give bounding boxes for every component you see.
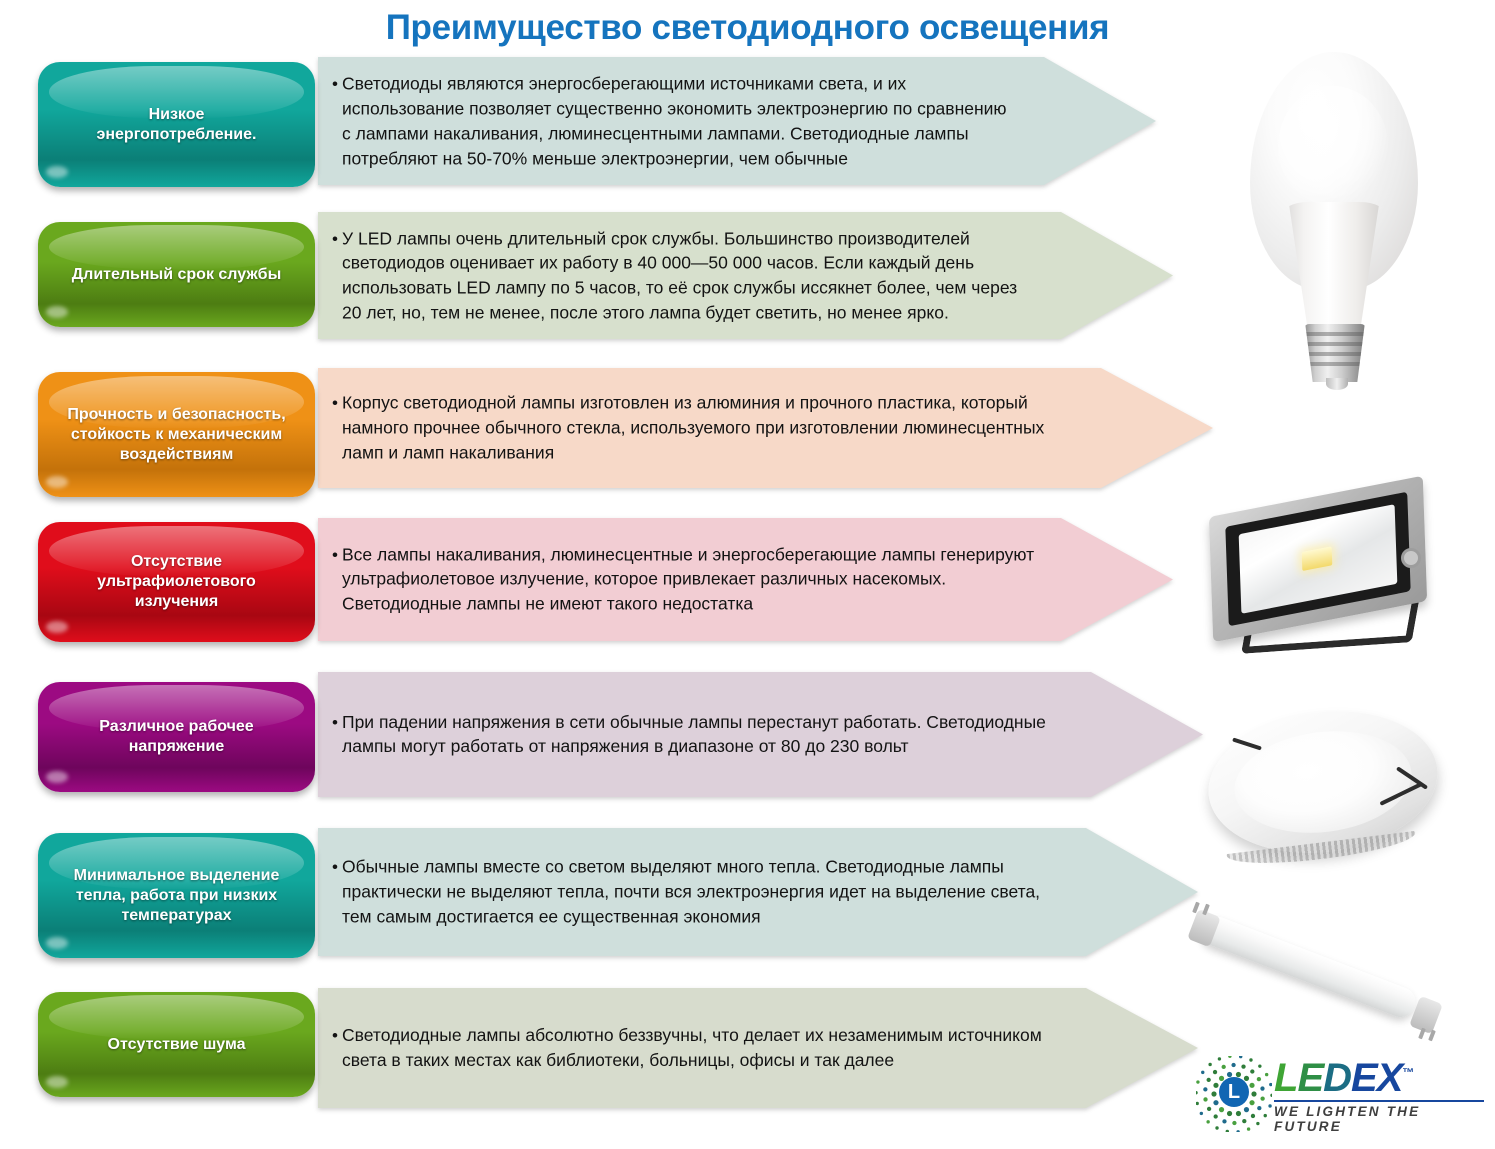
advantage-label[interactable]: Отсутствие шума bbox=[38, 992, 315, 1097]
advantage-description: •Светодиодные лампы абсолютно беззвучны,… bbox=[332, 1023, 1062, 1073]
advantage-description: •Светодиоды являются энергосберегающими … bbox=[332, 71, 1020, 170]
advantage-label-text: Длительный срок службы bbox=[72, 265, 281, 285]
logo-letter-e2: E bbox=[1351, 1056, 1377, 1100]
logo-mark-letter: L bbox=[1219, 1077, 1249, 1107]
infographic-page: Преимущество светодиодного освещения •Св… bbox=[0, 0, 1495, 1149]
led-round-panel-image bbox=[1208, 700, 1453, 865]
advantage-label[interactable]: Прочность и безопасность, стойкость к ме… bbox=[38, 372, 315, 497]
advantage-description-text: Обычные лампы вместе со светом выделяют … bbox=[332, 855, 1062, 930]
advantage-description: •Все лампы накаливания, люминесцентные и… bbox=[332, 542, 1037, 617]
panel-diffuser bbox=[1229, 722, 1418, 843]
advantage-description: •Корпус светодиодной лампы изготовлен из… bbox=[332, 391, 1077, 466]
bulb-contact-tip bbox=[1326, 378, 1348, 390]
pill-corner-highlight bbox=[46, 1076, 68, 1088]
bullet-marker: • bbox=[332, 392, 338, 416]
pill-corner-highlight bbox=[46, 771, 68, 783]
pill-gloss bbox=[49, 225, 304, 269]
bulb-screw-base bbox=[1304, 324, 1366, 382]
logo-letter-e1: E bbox=[1297, 1056, 1323, 1100]
led-tube-image bbox=[1190, 918, 1440, 1043]
floodlight-glass bbox=[1239, 504, 1398, 614]
advantage-arrow: •У LED лампы очень длительный срок служб… bbox=[318, 212, 1173, 339]
pill-corner-highlight bbox=[46, 937, 68, 949]
advantage-description: •У LED лампы очень длительный срок служб… bbox=[332, 226, 1037, 325]
advantage-description-text: Все лампы накаливания, люминесцентные и … bbox=[332, 542, 1037, 617]
advantage-arrow: •Светодиодные лампы абсолютно беззвучны,… bbox=[318, 988, 1198, 1108]
led-floodlight-image bbox=[1205, 492, 1440, 652]
panel-rim bbox=[1200, 699, 1445, 866]
advantage-label-text: Прочность и безопасность, стойкость к ме… bbox=[67, 405, 285, 465]
advantage-arrow: •Светодиоды являются энергосберегающими … bbox=[318, 57, 1156, 185]
advantage-description: •Обычные лампы вместе со светом выделяют… bbox=[332, 855, 1062, 930]
bullet-marker: • bbox=[332, 711, 338, 735]
advantage-label[interactable]: Минимальное выделение тепла, работа при … bbox=[38, 833, 315, 958]
tube-body bbox=[1198, 913, 1420, 1022]
bullet-marker: • bbox=[332, 1024, 338, 1048]
floodlight-led-chip bbox=[1302, 546, 1333, 571]
logo-tagline: WE LIGHTEN THE FUTURE bbox=[1274, 1100, 1484, 1134]
page-title: Преимущество светодиодного освещения bbox=[0, 8, 1495, 48]
advantage-label[interactable]: Отсутствие ультрафиолетового излучения bbox=[38, 522, 315, 642]
advantage-description-text: Светодиоды являются энергосберегающими и… bbox=[332, 71, 1020, 170]
logo-text: LEDEX™ WE LIGHTEN THE FUTURE bbox=[1274, 1058, 1484, 1134]
advantage-label-text: Различное рабочее напряжение bbox=[99, 717, 253, 757]
advantage-label[interactable]: Низкое энергопотребление. bbox=[38, 62, 315, 187]
advantage-label-text: Низкое энергопотребление. bbox=[97, 105, 257, 145]
advantage-arrow: •При падении напряжения в сети обычные л… bbox=[318, 672, 1203, 797]
bullet-marker: • bbox=[332, 856, 338, 880]
advantage-label-text: Минимальное выделение тепла, работа при … bbox=[74, 866, 280, 926]
advantage-label[interactable]: Различное рабочее напряжение bbox=[38, 682, 315, 792]
logo-letter-x: X bbox=[1377, 1056, 1403, 1100]
advantage-description-text: У LED лампы очень длительный срок службы… bbox=[332, 226, 1037, 325]
advantage-arrow: •Корпус светодиодной лампы изготовлен из… bbox=[318, 368, 1213, 488]
advantage-label[interactable]: Длительный срок службы bbox=[38, 222, 315, 327]
pill-corner-highlight bbox=[46, 476, 68, 488]
logo-letter-l: L bbox=[1274, 1056, 1297, 1100]
pill-gloss bbox=[49, 995, 304, 1039]
advantage-description-text: При падении напряжения в сети обычные ла… bbox=[332, 710, 1067, 760]
advantage-description-text: Светодиодные лампы абсолютно беззвучны, … bbox=[332, 1023, 1062, 1073]
trademark-symbol: ™ bbox=[1402, 1066, 1413, 1080]
bullet-marker: • bbox=[332, 543, 338, 567]
logo-wordmark: LEDEX™ bbox=[1274, 1058, 1484, 1098]
led-bulb-image bbox=[1238, 52, 1428, 382]
logo-letter-d: D bbox=[1323, 1056, 1351, 1100]
advantage-description: •При падении напряжения в сети обычные л… bbox=[332, 710, 1067, 760]
advantage-description-text: Корпус светодиодной лампы изготовлен из … bbox=[332, 391, 1077, 466]
bullet-marker: • bbox=[332, 72, 338, 96]
pill-corner-highlight bbox=[46, 621, 68, 633]
floodlight-hinge bbox=[1401, 548, 1421, 568]
bullet-marker: • bbox=[332, 227, 338, 251]
advantage-arrow: •Все лампы накаливания, люминесцентные и… bbox=[318, 518, 1173, 641]
advantage-label-text: Отсутствие ультрафиолетового излучения bbox=[97, 552, 256, 612]
ledex-logo: L LEDEX™ WE LIGHTEN THE FUTURE bbox=[1196, 1054, 1486, 1134]
floodlight-bezel bbox=[1225, 492, 1410, 627]
bulb-highlight bbox=[1278, 86, 1388, 206]
pill-corner-highlight bbox=[46, 166, 68, 178]
pill-corner-highlight bbox=[46, 306, 68, 318]
advantage-label-text: Отсутствие шума bbox=[108, 1035, 246, 1055]
advantage-arrow: •Обычные лампы вместе со светом выделяют… bbox=[318, 828, 1198, 956]
